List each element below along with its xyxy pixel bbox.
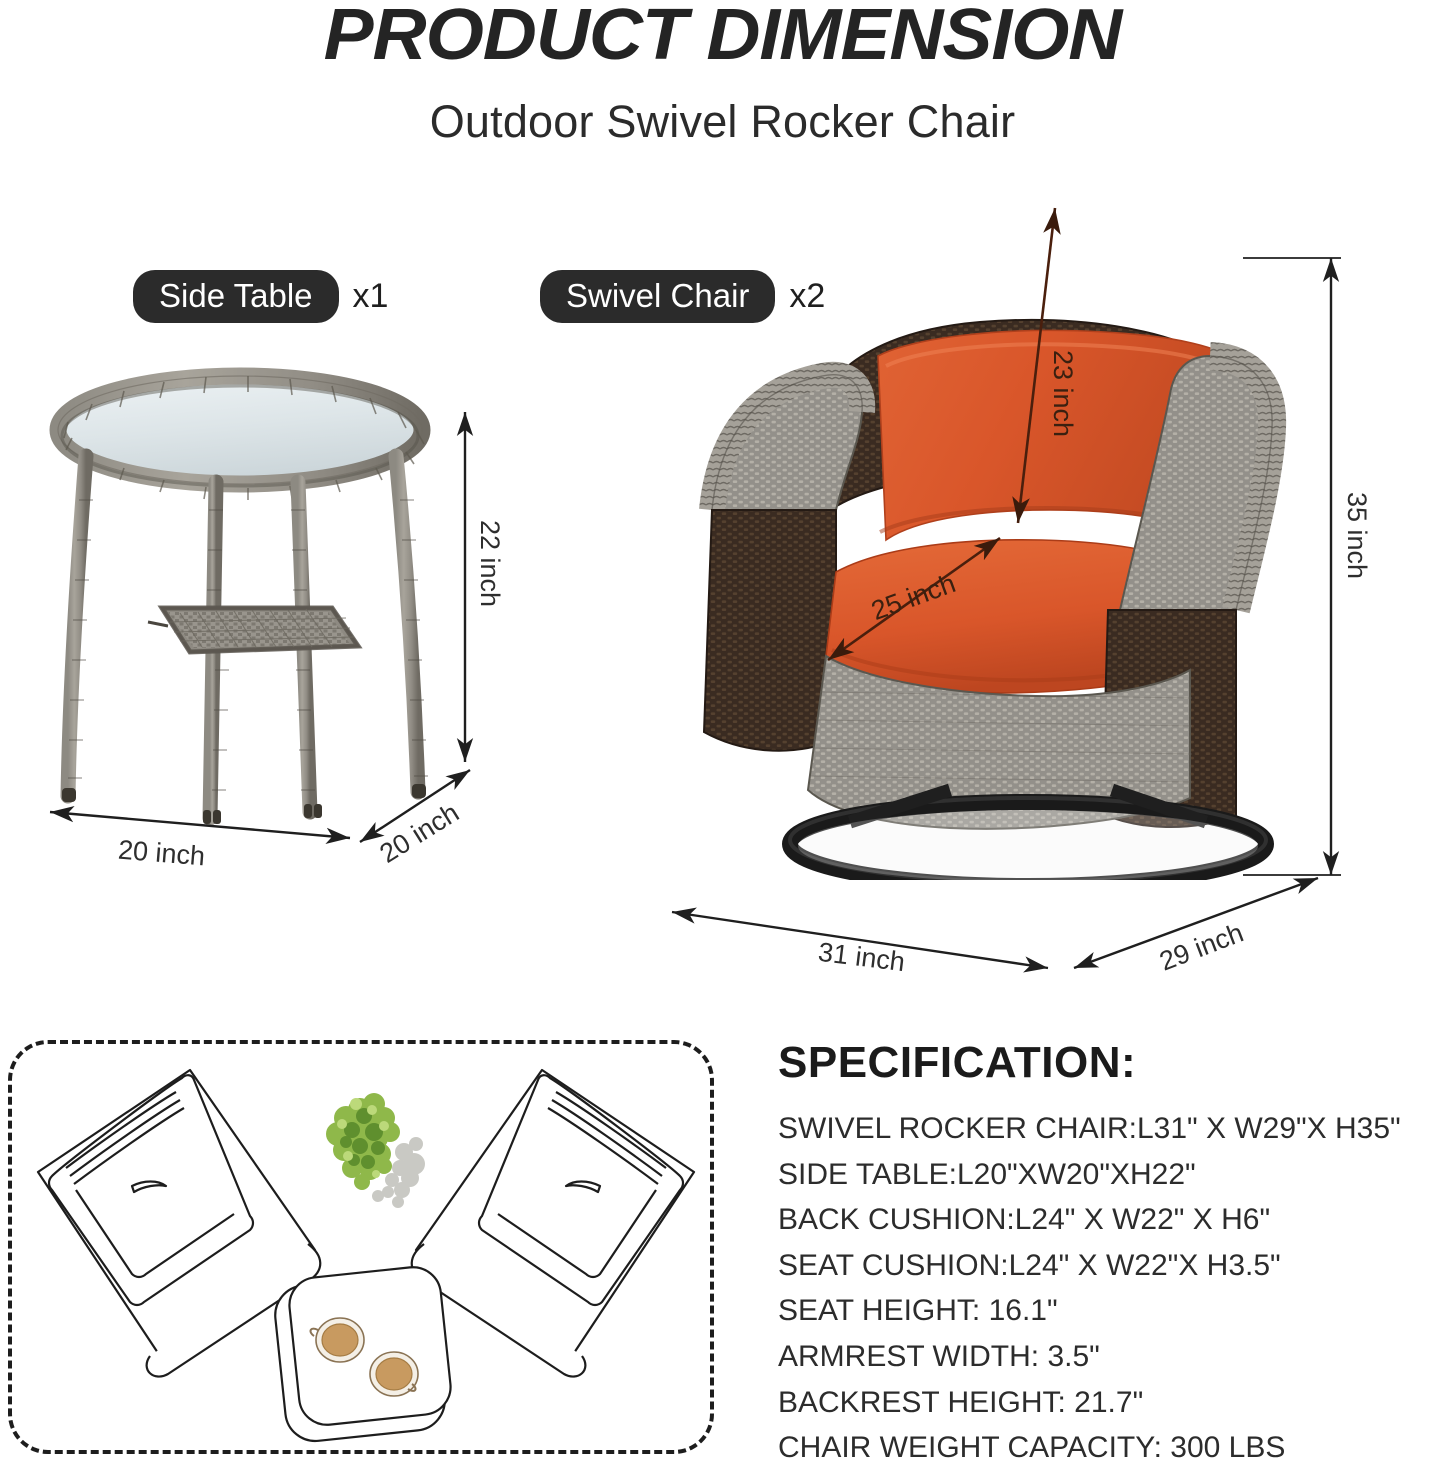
chair-width-label: 31 inch <box>816 937 906 978</box>
plant-top-view <box>326 1093 425 1208</box>
layout-diagram-svg <box>12 1044 718 1458</box>
layout-diagram <box>8 1040 714 1454</box>
table-width-label: 20 inch <box>117 835 206 873</box>
chair-depth-label: 29 inch <box>1155 917 1247 977</box>
side-table-illustration <box>40 360 460 830</box>
spec-line-seat-height: SEAT HEIGHT: 16.1" <box>778 1288 1438 1334</box>
spec-line-seat-cushion: SEAT CUSHION:L24" X W22"X H3.5" <box>778 1243 1438 1289</box>
table-height-label: 22 inch <box>474 520 505 607</box>
badge-side-table: Side Table x1 <box>133 270 388 323</box>
table-outline <box>272 1264 453 1443</box>
badge-qty-side-table: x1 <box>353 277 389 316</box>
specification-title: SPECIFICATION: <box>778 1038 1438 1088</box>
page-title: PRODUCT DIMENSION <box>0 0 1445 76</box>
back-cushion-label: 23 inch <box>1047 350 1078 437</box>
cup-2 <box>370 1352 418 1396</box>
spec-line-backrest-height: BACKREST HEIGHT: 21.7" <box>778 1380 1438 1426</box>
chair-height-label: 35 inch <box>1341 492 1372 579</box>
chair-outline-right <box>412 1070 694 1377</box>
badge-label-side-table: Side Table <box>133 270 339 323</box>
spec-line-back-cushion: BACK CUSHION:L24" X W22" X H6" <box>778 1197 1438 1243</box>
swivel-chair-illustration <box>650 180 1290 880</box>
spec-line-armrest-width: ARMREST WIDTH: 3.5" <box>778 1334 1438 1380</box>
spec-line-table: SIDE TABLE:L20"XW20"XH22" <box>778 1152 1438 1198</box>
page-subtitle: Outdoor Swivel Rocker Chair <box>0 96 1445 148</box>
spec-line-chair: SWIVEL ROCKER CHAIR:L31" X W29"X H35" <box>778 1106 1438 1152</box>
specification-block: SPECIFICATION: SWIVEL ROCKER CHAIR:L31" … <box>778 1038 1438 1471</box>
